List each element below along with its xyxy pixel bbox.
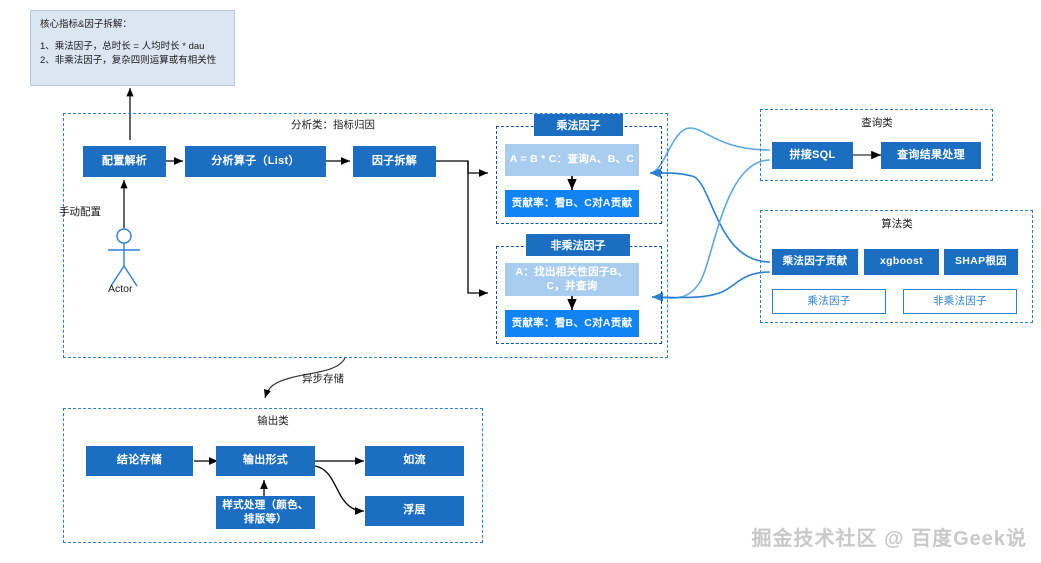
non-multiplicative-contribution-step[interactable]: 贡献率：看B、C对A贡献 <box>505 310 639 337</box>
box-label: 输出形式 <box>243 454 288 468</box>
box-label: 查询结果处理 <box>897 149 965 163</box>
box-label: 结论存储 <box>117 454 162 468</box>
box-label: 拼接SQL <box>789 149 835 163</box>
step-label: 配置解析 <box>102 155 147 169</box>
group-output-class-title: 输出类 <box>231 413 315 428</box>
query-box-concat-sql[interactable]: 拼接SQL <box>772 142 853 169</box>
algo-box-xgboost[interactable]: xgboost <box>864 249 939 275</box>
note-box: 核心指标&因子拆解： 1、乘法因子，总时长 = 人均时长 * dau 2、非乘法… <box>30 10 235 86</box>
step-label: A：找出相关性因子B、C，并查询 <box>511 266 633 292</box>
box-label: xgboost <box>880 255 923 268</box>
group-analysis-title: 分析类：指标归因 <box>248 117 418 132</box>
async-storage-label: 异步存储 <box>302 371 344 386</box>
watermark: 掘金技术社区 @ 百度Geek说 <box>751 522 1027 551</box>
group-algorithm-class-title: 算法类 <box>855 216 939 231</box>
algo-box-shap[interactable]: SHAP根因 <box>944 249 1018 275</box>
box-label: 浮层 <box>403 504 426 518</box>
actor-label: Actor <box>108 283 133 295</box>
algo-box-non-multiplicative-factor[interactable]: 非乘法因子 <box>903 289 1017 314</box>
box-label: SHAP根因 <box>955 255 1007 268</box>
output-box-conclusion-storage[interactable]: 结论存储 <box>86 446 193 476</box>
non-multiplicative-query-step[interactable]: A：找出相关性因子B、C，并查询 <box>505 263 639 296</box>
output-box-ruliu[interactable]: 如流 <box>365 446 464 476</box>
tag-non-multiplicative-factor: 非乘法因子 <box>526 234 630 256</box>
tag-multiplicative-factor: 乘法因子 <box>534 114 623 136</box>
multiplicative-contribution-step[interactable]: 贡献率：看B、C对A贡献 <box>505 190 639 217</box>
algo-box-multiplicative-contribution[interactable]: 乘法因子贡献 <box>772 249 858 275</box>
manual-config-label: 手动配置 <box>59 204 101 219</box>
note-line-1: 1、乘法因子，总时长 = 人均时长 * dau <box>40 40 225 55</box>
step-box-analysis-operator[interactable]: 分析算子（List） <box>185 146 326 177</box>
algo-box-multiplicative-factor[interactable]: 乘法因子 <box>772 289 886 314</box>
output-box-floating-layer[interactable]: 浮层 <box>365 496 464 526</box>
step-box-config-parse[interactable]: 配置解析 <box>83 146 166 177</box>
box-label: 样式处理（颜色、排版等） <box>220 499 311 525</box>
step-label: 分析算子（List） <box>211 155 300 169</box>
box-label: 非乘法因子 <box>933 295 987 308</box>
box-label: 乘法因子 <box>807 295 850 308</box>
step-label: 贡献率：看B、C对A贡献 <box>512 197 633 210</box>
multiplicative-query-step[interactable]: A = B * C：查询A、B、C <box>505 144 639 176</box>
note-line-2: 2、非乘法因子，复杂四则运算或有相关性 <box>40 54 225 69</box>
group-query-class-title: 查询类 <box>835 115 919 130</box>
query-box-result-processing[interactable]: 查询结果处理 <box>881 142 981 169</box>
step-label: 因子拆解 <box>372 155 417 169</box>
output-box-style-processing[interactable]: 样式处理（颜色、排版等） <box>216 496 315 529</box>
diagram-canvas: 核心指标&因子拆解： 1、乘法因子，总时长 = 人均时长 * dau 2、非乘法… <box>0 0 1041 563</box>
step-box-factor-split[interactable]: 因子拆解 <box>353 146 436 177</box>
step-label: 贡献率：看B、C对A贡献 <box>512 317 633 330</box>
step-label: A = B * C：查询A、B、C <box>510 153 635 166</box>
box-label: 乘法因子贡献 <box>783 255 848 268</box>
output-box-output-form[interactable]: 输出形式 <box>216 446 315 476</box>
box-label: 如流 <box>403 454 426 468</box>
note-title: 核心指标&因子拆解： <box>40 18 225 33</box>
